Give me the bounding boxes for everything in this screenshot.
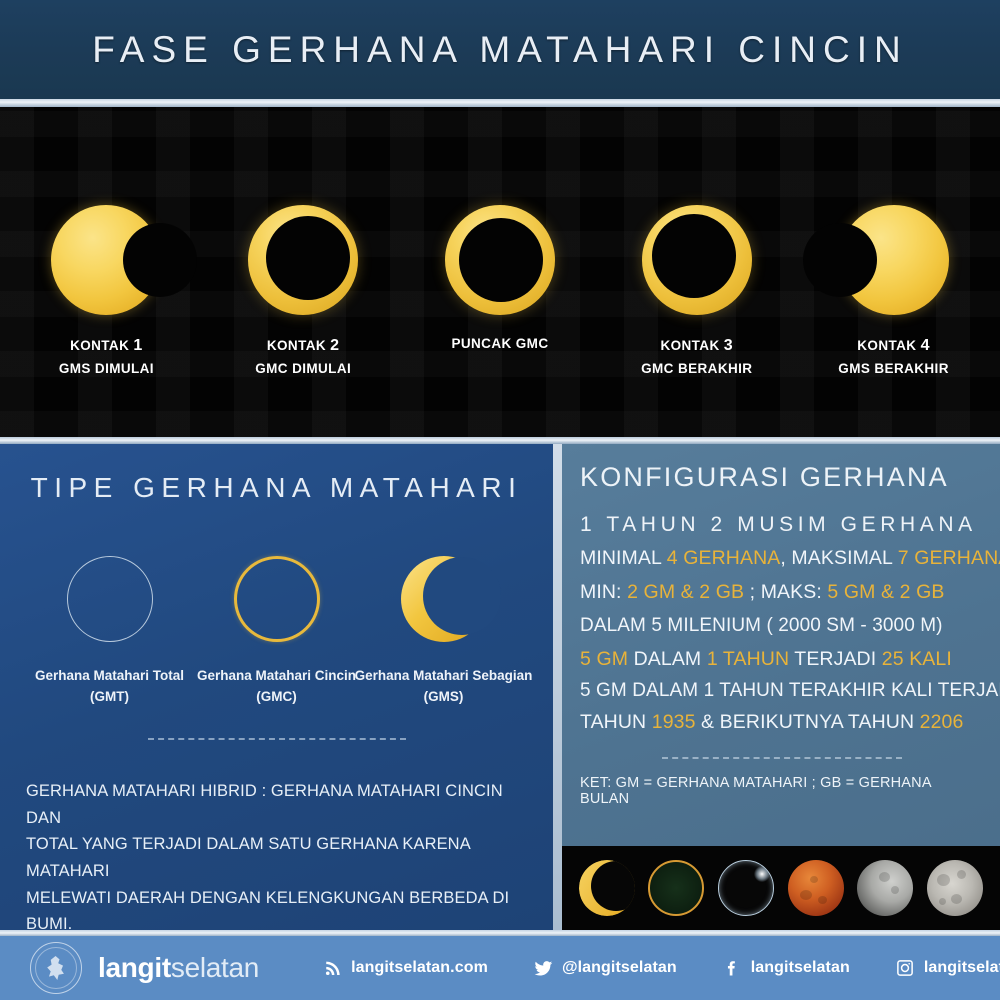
phase-label: KONTAK 3 GMC BERAKHIR <box>641 334 752 380</box>
config-subheading: 1 TAHUN 2 MUSIM GERHANA <box>580 513 984 537</box>
langitselatan-seal-icon <box>30 942 82 994</box>
type-label: Gerhana Matahari Total (GMT) <box>35 666 184 708</box>
social-links: langitselatan.com @langitselatan langits… <box>323 959 1000 978</box>
page-footer: langitselatan langitselatan.com @langits… <box>0 936 1000 1000</box>
social-instagram[interactable]: langitselatanmedia <box>896 959 1000 978</box>
phase-kontak-1: KONTAK 1 GMS DIMULAI <box>11 107 201 380</box>
annular-ring-icon <box>248 205 358 315</box>
page-title: FASE GERHANA MATAHARI CINCIN <box>92 29 908 71</box>
type-label: Gerhana Matahari Sebagian (GMS) <box>355 666 533 708</box>
left-panel-title: TIPE GERHANA MATAHARI <box>26 472 527 504</box>
partial-eclipse-crescent-icon <box>401 556 487 642</box>
config-line-tahun: TAHUN 1935 & BERIKUTNYA TAHUN 2206 <box>580 710 984 735</box>
annular-ring-icon <box>445 205 555 315</box>
config-line-minimal: MINIMAL 4 GERHANA, MAKSIMAL 7 GERHANA <box>580 546 984 571</box>
photo-annular-crescent <box>579 860 635 916</box>
type-label: Gerhana Matahari Cincin (GMC) <box>197 666 356 708</box>
photo-full-moon <box>927 860 983 916</box>
panel-divider <box>553 444 562 930</box>
facebook-icon <box>723 959 742 978</box>
photo-annular-dark-disc <box>648 860 704 916</box>
total-eclipse-circle-icon <box>67 556 153 642</box>
eclipse-phases-section: KONTAK 1 GMS DIMULAI KONTAK 2 GMC DIMULA… <box>0 107 1000 437</box>
social-label: langitselatan <box>751 959 850 977</box>
social-rss[interactable]: langitselatan.com <box>323 959 488 978</box>
social-twitter[interactable]: @langitselatan <box>534 959 677 978</box>
sun-partial-right-bite-icon <box>51 205 161 315</box>
hybrid-eclipse-description: GERHANA MATAHARI HIBRID : GERHANA MATAHA… <box>26 778 527 938</box>
left-panel-dashed-separator <box>148 738 406 740</box>
twitter-icon <box>534 959 553 978</box>
type-gmt: Gerhana Matahari Total (GMT) <box>30 556 190 708</box>
phase-kontak-2: KONTAK 2 GMC DIMULAI <box>208 107 398 380</box>
social-label: langitselatanmedia <box>924 959 1000 977</box>
page-header: FASE GERHANA MATAHARI CINCIN <box>0 0 1000 99</box>
config-line-min-maks: MIN: 2 GM & 2 GB ; MAKS: 5 GM & 2 GB <box>580 580 984 605</box>
type-gmc: Gerhana Matahari Cincin (GMC) <box>197 556 357 708</box>
rss-icon <box>323 959 342 978</box>
social-label: @langitselatan <box>562 959 677 977</box>
config-line-5gm: 5 GM DALAM 1 TAHUN TERJADI 25 KALI <box>580 647 984 672</box>
right-panel-title: KONFIGURASI GERHANA <box>580 462 984 493</box>
eclipse-type-row: Gerhana Matahari Total (GMT) Gerhana Mat… <box>26 556 527 708</box>
photo-partial-lunar-eclipse <box>857 860 913 916</box>
config-line-terakhir: 5 GM DALAM 1 TAHUN TERAKHIR KALI TERJADI <box>580 679 984 703</box>
phase-label: KONTAK 1 GMS DIMULAI <box>59 334 154 380</box>
sun-partial-left-bite-icon <box>839 205 949 315</box>
header-divider <box>0 99 1000 107</box>
brand-block: langitselatan <box>30 942 259 994</box>
phase-label: PUNCAK GMC <box>451 334 548 355</box>
phase-kontak-3: KONTAK 3 GMC BERAKHIR <box>602 107 792 380</box>
social-facebook[interactable]: langitselatan <box>723 959 850 978</box>
phase-label: KONTAK 2 GMC DIMULAI <box>255 334 351 380</box>
social-label: langitselatan.com <box>351 959 488 977</box>
instagram-icon <box>896 959 915 978</box>
photo-total-eclipse-diamond-ring <box>718 860 774 916</box>
annular-ring-icon <box>642 205 752 315</box>
annular-eclipse-ring-icon <box>234 556 320 642</box>
photo-blood-moon <box>788 860 844 916</box>
ket-dashed-separator <box>662 757 902 759</box>
phase-label: KONTAK 4 GMS BERAKHIR <box>838 334 949 380</box>
phase-kontak-4: KONTAK 4 GMS BERAKHIR <box>799 107 989 380</box>
eclipse-types-panel: TIPE GERHANA MATAHARI Gerhana Matahari T… <box>0 444 553 930</box>
section-divider-top <box>0 437 1000 444</box>
config-line-milenium: DALAM 5 MILENIUM ( 2000 SM - 3000 M) <box>580 614 984 638</box>
legend-text: KET: GM = GERHANA MATAHARI ; GB = GERHAN… <box>580 775 984 807</box>
brand-name: langitselatan <box>98 952 259 984</box>
phase-puncak-gmc: PUNCAK GMC <box>405 107 595 355</box>
type-gms: Gerhana Matahari Sebagian (GMS) <box>364 556 524 708</box>
eclipse-photo-strip <box>562 846 1000 930</box>
